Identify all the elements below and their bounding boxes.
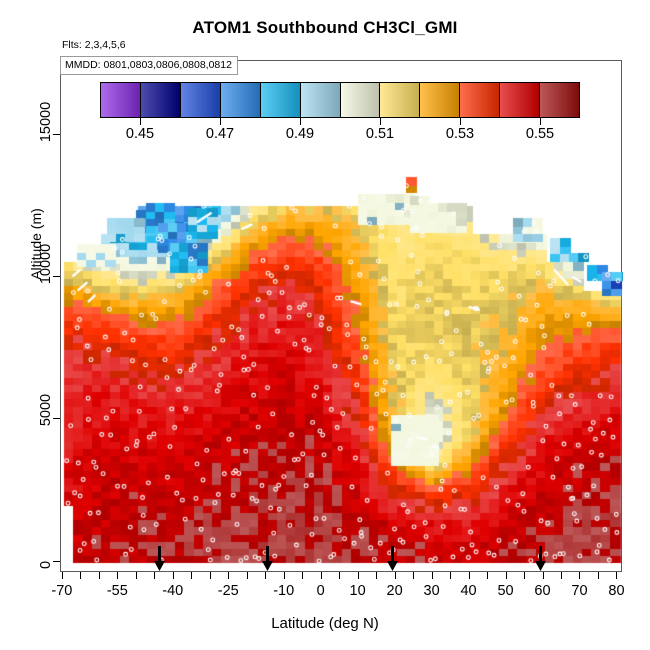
colorbar-tick-labels: 0.450.470.490.510.530.55 xyxy=(100,125,580,145)
colorbar-band-3 xyxy=(221,83,261,117)
x-tick-18 xyxy=(395,572,396,579)
x-tick-20 xyxy=(432,572,433,579)
colorbar-band-10 xyxy=(500,83,540,117)
y-tick-label-1: 5000 xyxy=(38,394,54,426)
x-tick-27 xyxy=(561,572,562,579)
colorbar-tick-4 xyxy=(460,118,461,125)
x-tick-label-11: 60 xyxy=(534,583,550,599)
x-tick-2 xyxy=(99,572,100,579)
colorbar-tick-label-4: 0.53 xyxy=(446,126,474,142)
page-title: ATOM1 Southbound CH3Cl_GMI xyxy=(0,18,650,38)
colorbar-tick-3 xyxy=(380,118,381,125)
x-tick-29 xyxy=(598,572,599,579)
x-tick-label-2: -40 xyxy=(162,583,183,599)
x-tick-label-4: -10 xyxy=(273,583,294,599)
colorbar: 0.450.470.490.510.530.55 xyxy=(100,82,580,145)
y-tick-label-2: 10000 xyxy=(38,244,54,284)
colorbar-band-4 xyxy=(261,83,301,117)
colorbar-tick-1 xyxy=(220,118,221,125)
colorbar-band-1 xyxy=(141,83,181,117)
y-tick-0 xyxy=(53,561,60,562)
x-tick-10 xyxy=(247,572,248,579)
dates-annotation: MMDD: 0801,0803,0806,0808,0812 xyxy=(60,56,238,75)
colorbar-tick-label-0: 0.45 xyxy=(126,126,154,142)
annotation-arrow-1 xyxy=(261,546,274,570)
x-tick-25 xyxy=(524,572,525,579)
colorbar-tick-label-1: 0.47 xyxy=(206,126,234,142)
colorbar-band-8 xyxy=(420,83,460,117)
y-tick-label-3: 15000 xyxy=(38,102,54,142)
colorbar-band-7 xyxy=(380,83,420,117)
annotation-arrow-2 xyxy=(386,546,399,570)
x-tick-label-9: 40 xyxy=(460,583,476,599)
x-tick-label-10: 50 xyxy=(497,583,513,599)
x-tick-21 xyxy=(450,572,451,579)
x-tick-label-12: 70 xyxy=(571,583,587,599)
x-tick-22 xyxy=(469,572,470,579)
x-tick-4 xyxy=(136,572,137,579)
colorbar-band-6 xyxy=(341,83,381,117)
x-tick-12 xyxy=(284,572,285,579)
colorbar-tick-label-3: 0.51 xyxy=(366,126,394,142)
x-tick-6 xyxy=(173,572,174,579)
x-tick-23 xyxy=(487,572,488,579)
x-axis-label: Latitude (deg N) xyxy=(0,615,650,632)
annotation-arrow-0 xyxy=(153,546,166,570)
colorbar-tick-5 xyxy=(540,118,541,125)
x-tick-1 xyxy=(80,572,81,579)
colorbar-ticks xyxy=(100,118,580,125)
colorbar-band-2 xyxy=(181,83,221,117)
flights-annotation: Flts: 2,3,4,5,6 xyxy=(62,39,126,51)
colorbar-tick-label-5: 0.55 xyxy=(526,126,554,142)
x-tick-0 xyxy=(62,572,63,579)
y-tick-label-0: 0 xyxy=(38,561,54,569)
x-tick-16 xyxy=(358,572,359,579)
x-tick-9 xyxy=(228,572,229,579)
x-tick-label-3: -25 xyxy=(218,583,239,599)
x-tick-14 xyxy=(321,572,322,579)
x-tick-label-1: -55 xyxy=(107,583,128,599)
x-tick-label-7: 20 xyxy=(387,583,403,599)
x-tick-15 xyxy=(339,572,340,579)
x-tick-7 xyxy=(191,572,192,579)
colorbar-tick-0 xyxy=(140,118,141,125)
x-tick-3 xyxy=(117,572,118,579)
colorbar-band-5 xyxy=(301,83,341,117)
colorbar-tick-label-2: 0.49 xyxy=(286,126,314,142)
x-tick-5 xyxy=(154,572,155,579)
x-tick-label-5: 0 xyxy=(317,583,325,599)
x-tick-26 xyxy=(543,572,544,579)
x-tick-28 xyxy=(579,572,580,579)
colorbar-band-9 xyxy=(460,83,500,117)
x-tick-label-8: 30 xyxy=(424,583,440,599)
x-tick-24 xyxy=(506,572,507,579)
colorbar-tick-2 xyxy=(300,118,301,125)
x-tick-label-13: 80 xyxy=(608,583,624,599)
x-tick-13 xyxy=(302,572,303,579)
figure-canvas: ATOM1 Southbound CH3Cl_GMI Flts: 2,3,4,5… xyxy=(0,0,650,650)
colorbar-band-11 xyxy=(540,83,579,117)
x-tick-label-6: 10 xyxy=(350,583,366,599)
x-tick-label-0: -70 xyxy=(51,583,72,599)
colorbar-gradient xyxy=(100,82,580,118)
x-tick-11 xyxy=(265,572,266,579)
annotation-arrow-3 xyxy=(534,546,547,570)
x-tick-17 xyxy=(376,572,377,579)
x-tick-8 xyxy=(210,572,211,579)
colorbar-band-0 xyxy=(101,83,141,117)
x-tick-19 xyxy=(413,572,414,579)
x-tick-30 xyxy=(616,572,617,579)
